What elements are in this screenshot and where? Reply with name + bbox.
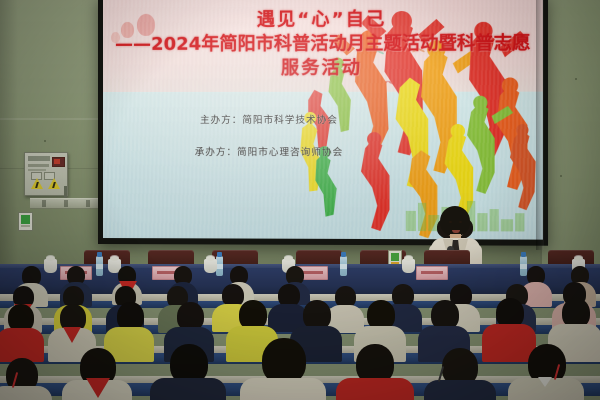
slide-title-block: 遇见“心”自己 ——2024年简阳市科普活动月主题活动暨科普志愿 服务活动 <box>103 8 543 80</box>
wall-speck <box>560 175 562 177</box>
audience-member <box>240 338 326 400</box>
exit-sign-icon <box>18 212 33 231</box>
panel-display <box>52 157 65 167</box>
wall-speck <box>44 140 46 142</box>
panel-label-strip <box>28 156 50 161</box>
screenshot-root: 遇见“心”自己 ——2024年简阳市科普活动月主题活动暨科普志愿 服务活动 主办… <box>0 0 600 400</box>
undertaker-line: 承办方：简阳市心理咨询师协会 <box>103 148 436 158</box>
presenter-eye <box>449 221 452 223</box>
right-wall <box>540 0 600 292</box>
presentation-slide: 遇见“心”自己 ——2024年简阳市科普活动月主题活动暨科普志愿 服务活动 主办… <box>103 0 543 240</box>
slide-organizer-block: 主办方：简阳市科学技术协会 承办方：简阳市心理咨询师协会 <box>103 116 436 180</box>
organizer-line: 主办方：简阳市科学技术协会 <box>103 116 436 126</box>
audience-member <box>62 348 132 400</box>
audience-member <box>0 304 44 362</box>
high-voltage-warning-icon <box>31 178 44 190</box>
audience-member <box>0 358 52 400</box>
slide-title-line-3: 服务活动 <box>103 56 543 80</box>
slide-title-line-1: 遇见“心”自己 <box>103 8 543 32</box>
audience-member <box>336 344 414 400</box>
projection-screen: 遇见“心”自己 ——2024年简阳市科普活动月主题活动暨科普志愿 服务活动 主办… <box>103 0 543 240</box>
audience-member <box>150 344 226 400</box>
slide-title-line-2: ——2024年简阳市科普活动月主题活动暨科普志愿 <box>103 31 543 56</box>
panel-text-line <box>28 164 49 167</box>
wall-speck <box>575 78 577 80</box>
wall-pilaster <box>536 0 544 250</box>
presenter-eye <box>459 221 462 223</box>
panel-text-line <box>28 169 46 171</box>
audience-member <box>508 344 584 400</box>
audience-member <box>424 348 496 400</box>
electrical-panel[interactable] <box>24 152 68 196</box>
high-voltage-warning-icon <box>48 178 61 190</box>
audience-area <box>0 258 600 400</box>
left-wall-shadow <box>0 0 18 292</box>
